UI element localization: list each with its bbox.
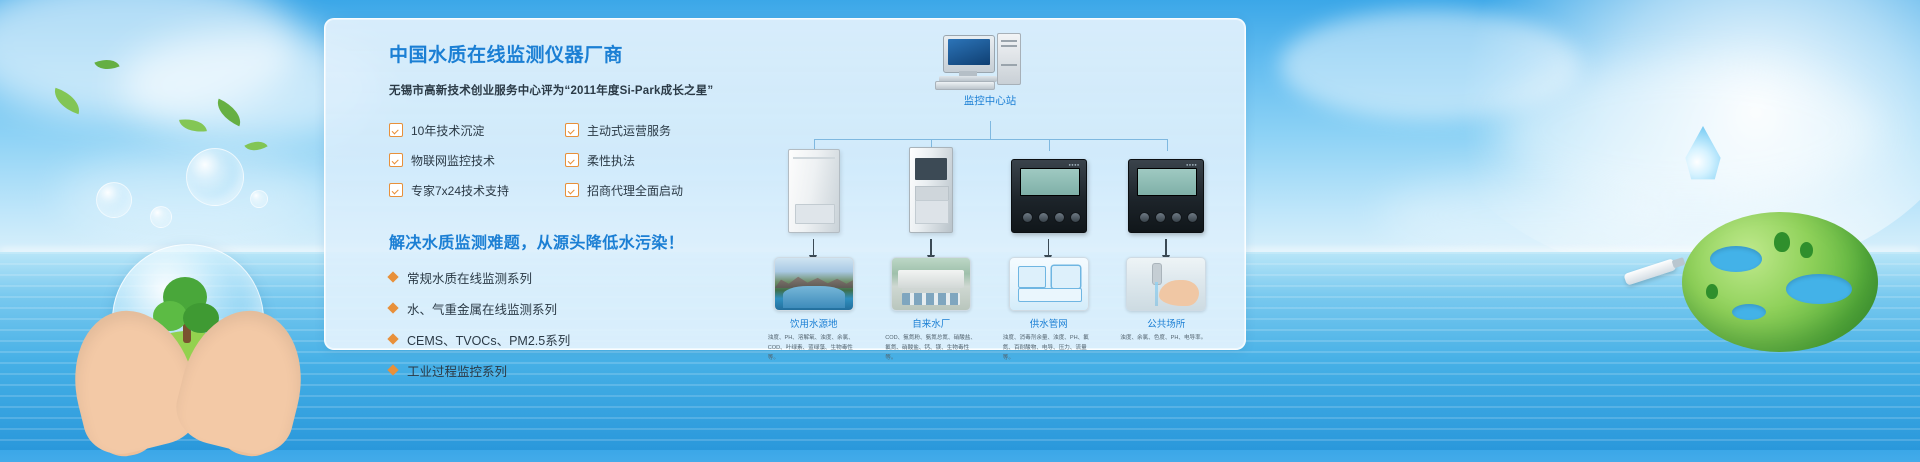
leaf-icon <box>179 116 207 134</box>
list-item: CEMS、TVOCs、PM2.5系列 <box>389 330 739 349</box>
scenario-title: 自来水厂 <box>912 316 950 330</box>
scenario-photo-water-network <box>1009 257 1089 311</box>
lake <box>1732 304 1766 320</box>
system-diagram: 监控中心站 <box>755 33 1225 343</box>
checkbox-checked-icon <box>389 123 403 137</box>
computer-icon <box>935 33 1045 89</box>
tree-icon <box>1800 242 1813 258</box>
checkbox-checked-icon <box>565 153 579 167</box>
device-node <box>755 149 873 265</box>
hand-washing-illustration <box>1159 280 1199 306</box>
page-title: 中国水质在线监测仪器厂商 <box>389 45 739 68</box>
monitor-screen <box>948 39 990 65</box>
leaf-icon <box>244 136 267 156</box>
monitoring-center-node: 监控中心站 <box>935 33 1045 108</box>
product-line-label: 常规水质在线监测系列 <box>407 268 532 287</box>
device-image <box>909 149 953 233</box>
product-line-label: 工业过程监控系列 <box>407 361 507 380</box>
controller-buttons <box>1139 212 1198 223</box>
lake <box>1710 246 1762 272</box>
scenario-card: 饮用水源地 浊度、PH、溶解氧、浊度、余氯、COD、叶绿素、蓝绿藻、生物毒性等。 <box>755 257 873 363</box>
connector-bus <box>814 139 1167 140</box>
leaf-icon <box>212 99 246 127</box>
checkbox-checked-icon <box>389 153 403 167</box>
analyzer-cabinet-icon <box>788 149 840 233</box>
feature-label: 专家7x24技术支持 <box>411 182 509 199</box>
device-brand-mark: ●●●● <box>1186 162 1197 167</box>
scenario-card: 自来水厂 COD、氨氮粉、氨氮总氮、硝酸盐、氟氮、硝酸盐、钙、镁、生物毒性等。 <box>873 257 991 363</box>
device-row: ●●●● ●●●● <box>755 149 1225 265</box>
section-heading: 解决水质监测难题，从源头降低水污染！ <box>389 229 739 253</box>
diamond-bullet-icon <box>387 272 398 283</box>
hands-holding-earth-illustration <box>72 218 304 450</box>
feature-label: 物联网监控技术 <box>411 152 495 169</box>
controller-lcd <box>1020 168 1080 196</box>
feature-item: 物联网监控技术 <box>389 152 565 169</box>
cloud <box>0 0 300 120</box>
left-content-column: 中国水质在线监测仪器厂商 无锡市高新技术创业服务中心评为“2011年度Si-Pa… <box>389 45 739 380</box>
scenario-description: COD、氨氮粉、氨氮总氮、硝酸盐、氟氮、硝酸盐、钙、镁、生物毒性等。 <box>885 334 977 363</box>
feature-item: 专家7x24技术支持 <box>389 182 565 199</box>
scenario-card: 公共场所 浊度、余氯、色度、PH、电导率。 <box>1108 257 1226 363</box>
product-line-label: CEMS、TVOCs、PM2.5系列 <box>407 330 570 349</box>
controller-icon: ●●●● <box>1128 159 1204 233</box>
tree-icon <box>1706 284 1718 299</box>
feature-item: 招商代理全面启动 <box>565 182 741 199</box>
diamond-bullet-icon <box>387 303 398 314</box>
device-image: ●●●● <box>1011 149 1087 233</box>
scenario-title: 饮用水源地 <box>790 316 838 330</box>
device-node: ●●●● <box>990 149 1108 265</box>
scenario-row: 饮用水源地 浊度、PH、溶解氧、浊度、余氯、COD、叶绿素、蓝绿藻、生物毒性等。… <box>755 257 1225 363</box>
scenario-description: 浊度、消毒剂余量、浊度、PH、氟氮、百耐酸物、电导、压力、流量等。 <box>1003 334 1095 363</box>
feature-item: 主动式运营服务 <box>565 122 741 139</box>
feature-item: 柔性执法 <box>565 152 741 169</box>
list-item: 常规水质在线监测系列 <box>389 268 739 287</box>
feature-label: 主动式运营服务 <box>587 122 671 139</box>
feature-label: 招商代理全面启动 <box>587 182 683 199</box>
feature-item: 10年技术沉淀 <box>389 122 565 139</box>
monitoring-center-label: 监控中心站 <box>935 93 1045 108</box>
device-display <box>915 158 947 180</box>
scenario-photo-water-plant <box>891 257 971 311</box>
connector-vertical <box>990 121 991 139</box>
device-brand-mark: ●●●● <box>1068 162 1079 167</box>
checkbox-checked-icon <box>565 123 579 137</box>
list-item: 工业过程监控系列 <box>389 361 739 380</box>
tree-icon <box>1774 232 1790 252</box>
controller-icon: ●●●● <box>1011 159 1087 233</box>
device-image <box>788 149 840 233</box>
list-item: 水、气重金属在线监测系列 <box>389 299 739 318</box>
scenario-photo-drinking-water-source <box>774 257 854 311</box>
scenario-photo-public-place <box>1126 257 1206 311</box>
feature-list: 10年技术沉淀 主动式运营服务 物联网监控技术 柔性执法 专家7x24技术支持 … <box>389 122 739 199</box>
feature-label: 10年技术沉淀 <box>411 122 484 139</box>
keyboard-icon <box>935 81 995 90</box>
analyzer-cabinet-icon <box>909 147 953 233</box>
scenario-title: 供水管网 <box>1030 316 1068 330</box>
diamond-bullet-icon <box>387 365 398 376</box>
diamond-bullet-icon <box>387 334 398 345</box>
device-node <box>873 149 991 265</box>
bubble <box>186 148 244 206</box>
scenario-card: 供水管网 浊度、消毒剂余量、浊度、PH、氟氮、百耐酸物、电导、压力、流量等。 <box>990 257 1108 363</box>
controller-buttons <box>1022 212 1081 223</box>
scenario-description: 浊度、余氯、色度、PH、电导率。 <box>1120 334 1212 344</box>
bubble <box>250 190 268 208</box>
bubble <box>96 182 132 218</box>
device-node: ●●●● <box>1108 149 1226 265</box>
page-subtitle: 无锡市高新技术创业服务中心评为“2011年度Si-Park成长之星” <box>389 82 739 98</box>
leaf-icon <box>94 54 119 74</box>
pc-tower-icon <box>997 33 1021 85</box>
green-earth-illustration <box>1682 212 1878 362</box>
monitor-icon <box>943 35 995 73</box>
content-card: 中国水质在线监测仪器厂商 无锡市高新技术创业服务中心评为“2011年度Si-Pa… <box>324 18 1246 350</box>
scenario-title: 公共场所 <box>1147 316 1185 330</box>
controller-lcd <box>1137 168 1197 196</box>
leaf-icon <box>50 88 84 114</box>
product-line-label: 水、气重金属在线监测系列 <box>407 299 557 318</box>
product-line-list: 常规水质在线监测系列 水、气重金属在线监测系列 CEMS、TVOCs、PM2.5… <box>389 268 739 380</box>
checkbox-checked-icon <box>565 183 579 197</box>
feature-label: 柔性执法 <box>587 152 635 169</box>
device-panel <box>915 200 949 224</box>
scenario-description: 浊度、PH、溶解氧、浊度、余氯、COD、叶绿素、蓝绿藻、生物毒性等。 <box>768 334 860 363</box>
device-image: ●●●● <box>1128 149 1204 233</box>
lake <box>1786 274 1852 304</box>
checkbox-checked-icon <box>389 183 403 197</box>
